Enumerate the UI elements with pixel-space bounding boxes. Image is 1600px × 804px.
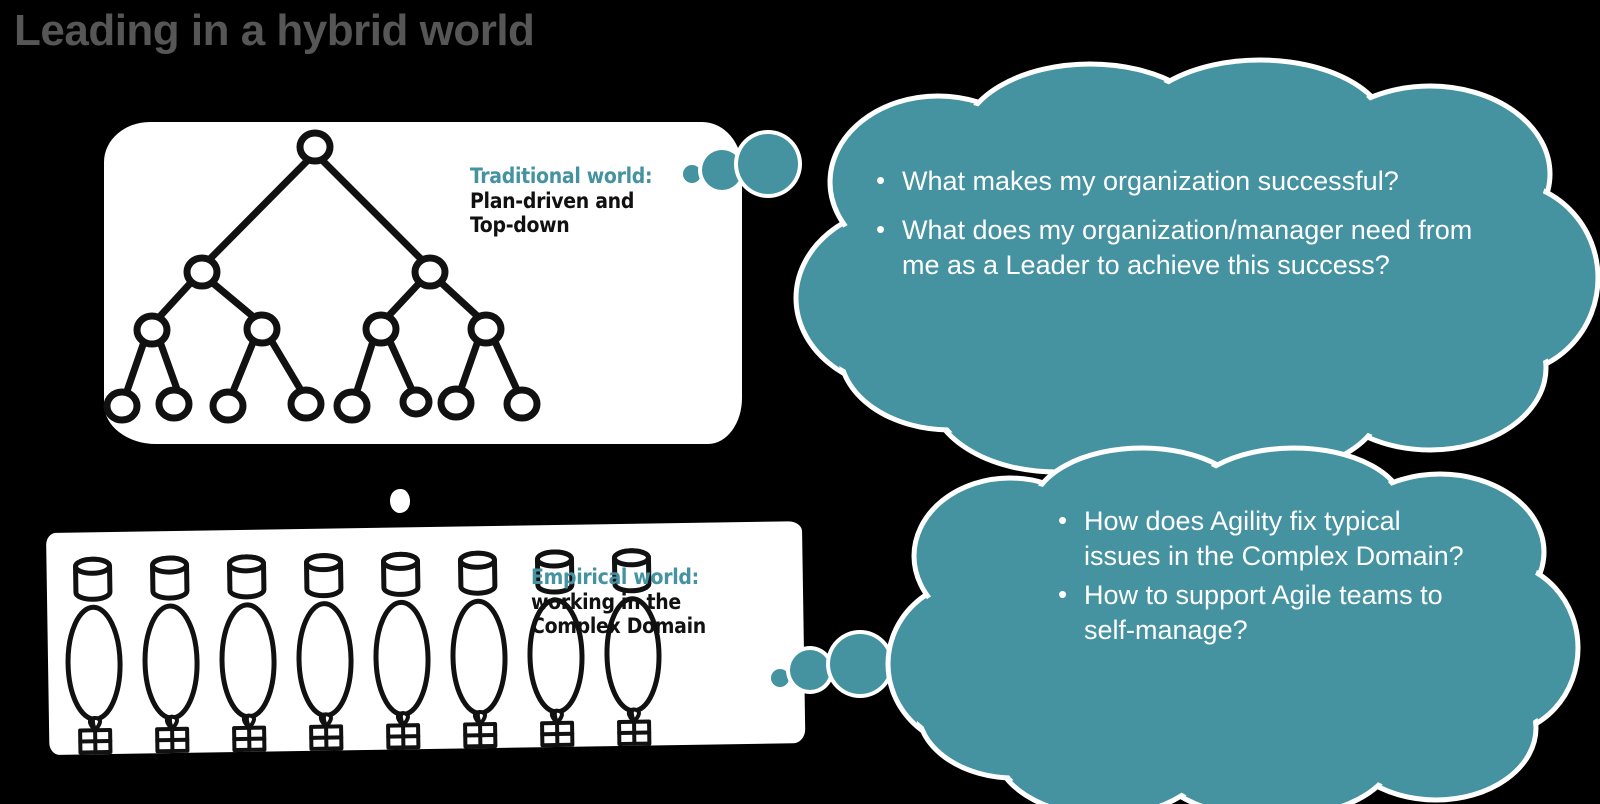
tree-node-leaf — [441, 389, 471, 417]
tree-node — [187, 258, 217, 286]
list-item: • How does Agility fix typical issues in… — [1058, 504, 1478, 574]
figure-head-top — [383, 554, 417, 569]
trail-dot-2-2 — [790, 650, 830, 690]
tree-node-leaf — [291, 390, 321, 418]
heading-traditional-world: Traditional world: Plan-driven and Top-d… — [470, 164, 652, 238]
trail-dot-2-1 — [771, 669, 789, 687]
bullet-icon: • — [1058, 578, 1084, 648]
figure-head-top — [229, 557, 263, 572]
team-figure — [66, 559, 121, 753]
bullet-text: What does my organization/manager need f… — [902, 213, 1516, 283]
figure-gift-box — [388, 713, 419, 748]
figure-body — [298, 603, 352, 716]
cloud-1-bullet-list: • What makes my organization successful?… — [876, 164, 1516, 297]
trail-dot-1-3 — [738, 134, 798, 194]
figure-gift-box — [542, 711, 573, 746]
team-figure — [220, 556, 275, 750]
team-figure — [451, 553, 506, 747]
figure-gift-box — [157, 717, 188, 752]
figure-body — [221, 604, 275, 717]
list-item: • How to support Agile teams to self-man… — [1058, 578, 1478, 648]
heading-traditional-line1: Plan-driven and — [470, 189, 652, 214]
list-item: • What makes my organization successful? — [876, 164, 1516, 199]
trail-dot-1-2 — [702, 150, 742, 190]
figure-body — [144, 606, 198, 719]
tree-node-leaf — [213, 392, 243, 420]
bullet-icon: • — [876, 213, 902, 283]
trail-dot-1-1 — [683, 165, 701, 183]
figure-gift-box — [80, 718, 111, 753]
tree-node — [366, 315, 396, 343]
team-figure — [374, 554, 429, 748]
tree-node-leaf — [403, 390, 429, 414]
bullet-icon: • — [1058, 504, 1084, 574]
heading-empirical-line2: Complex Domain — [531, 614, 706, 639]
heading-empirical-world: Empirical world: working in the Complex … — [531, 565, 706, 639]
bullet-text: What makes my organization successful? — [902, 164, 1516, 199]
slide-canvas: Leading in a hybrid world — [0, 0, 1600, 804]
bullet-icon: • — [876, 164, 902, 199]
white-blob-decoration — [390, 489, 410, 513]
figure-head-top — [614, 551, 648, 566]
figure-body — [375, 602, 429, 715]
team-figure — [143, 558, 198, 752]
tree-node — [415, 258, 445, 286]
tree-node — [247, 315, 277, 343]
tree-node-leaf — [107, 392, 137, 420]
figure-gift-box — [234, 715, 265, 750]
figure-gift-box — [465, 712, 496, 747]
figure-gift-box — [619, 709, 650, 744]
figure-head-top — [75, 559, 109, 574]
heading-traditional-teal: Traditional world: — [470, 164, 652, 189]
list-item: • What does my organization/manager need… — [876, 213, 1516, 283]
tree-node — [137, 316, 167, 344]
thought-cloud-empirical: • How does Agility fix typical issues in… — [880, 452, 1580, 804]
tree-node-leaf — [159, 390, 189, 418]
heading-empirical-teal: Empirical world: — [531, 565, 706, 590]
tree-node — [471, 315, 501, 343]
heading-traditional-line2: Top-down — [470, 213, 652, 238]
cloud-2-bullet-list: • How does Agility fix typical issues in… — [1058, 504, 1478, 652]
page-title: Leading in a hybrid world — [14, 8, 534, 54]
bullet-text: How does Agility fix typical issues in t… — [1084, 504, 1478, 574]
figure-head-top — [152, 558, 186, 573]
tree-node-leaf — [337, 392, 367, 420]
figure-body — [67, 607, 121, 720]
figure-head-top — [306, 555, 340, 570]
figure-gift-box — [311, 714, 342, 749]
tree-node-leaf — [507, 390, 537, 418]
tree-node-root — [300, 133, 330, 161]
figure-body — [452, 601, 506, 714]
team-figure — [297, 555, 352, 749]
bullet-text: How to support Agile teams to self-manag… — [1084, 578, 1478, 648]
thought-cloud-traditional: • What makes my organization successful?… — [790, 62, 1600, 464]
figure-head-top — [460, 553, 494, 568]
heading-empirical-line1: working in the — [531, 590, 706, 615]
